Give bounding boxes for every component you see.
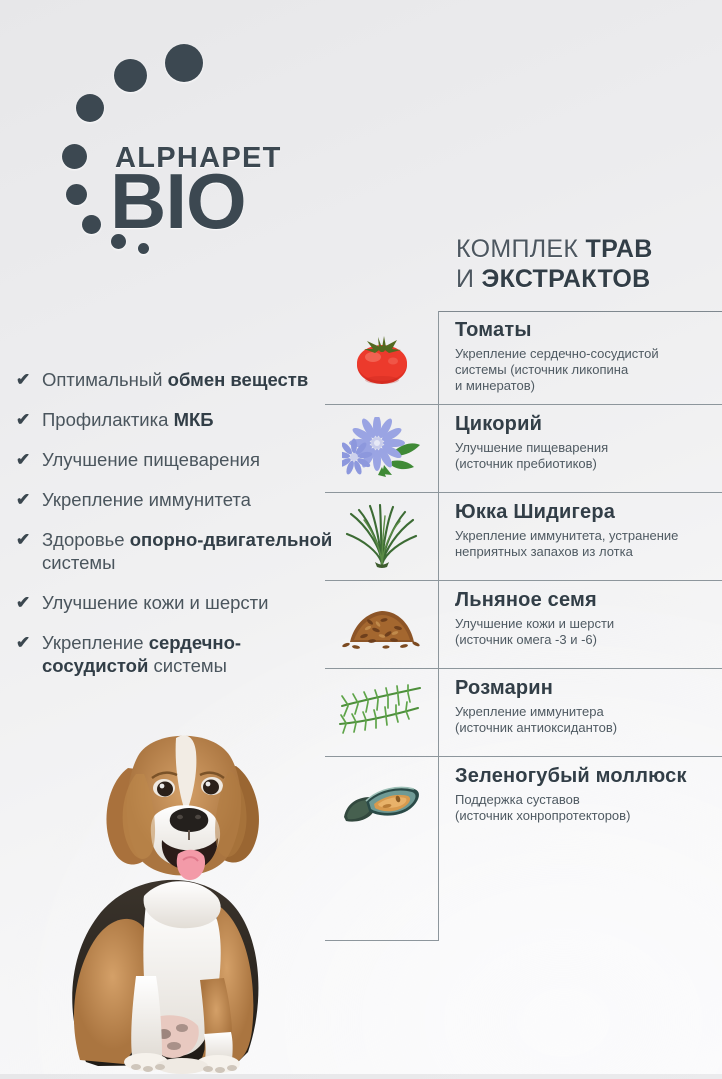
herb-name: Юкка Шидигера	[455, 500, 714, 525]
table-cell-text: Розмарин Укрепление иммунитера (источник…	[438, 668, 722, 756]
herb-name: Зеленогубый моллюск	[455, 764, 714, 789]
herb-description: Улучшение кожи и шерсти (источник омега …	[455, 616, 714, 648]
check-icon: ✔	[16, 448, 42, 471]
logo-wordmark-bio: BIO	[110, 162, 246, 240]
benefit-label: Оптимальный обмен веществ	[42, 368, 308, 391]
herb-name: Розмарин	[455, 676, 714, 701]
herbs-section-title: КОМПЛЕК ТРАВИ ЭКСТРАКТОВ	[456, 234, 722, 294]
check-icon: ✔	[16, 631, 42, 654]
logo-dot-3	[76, 94, 104, 122]
benefit-label: Улучшение пищеварения	[42, 448, 260, 471]
chicory-flower-icon	[325, 404, 438, 492]
benefit-item: ✔ Оптимальный обмен веществ	[16, 368, 336, 391]
check-icon: ✔	[16, 368, 42, 391]
green-lipped-mussel-icon	[325, 756, 438, 844]
benefit-item: ✔ Здоровье опорно-двигательной системы	[16, 528, 336, 574]
herb-name: Цикорий	[455, 412, 714, 437]
herb-name: Льняное семя	[455, 588, 714, 613]
herb-description: Поддержка суставов (источник хонропротек…	[455, 792, 714, 824]
table-row: Льняное семя Улучшение кожи и шерсти (ис…	[325, 580, 722, 668]
beagle-puppy-photo	[40, 690, 340, 1074]
table-cell-text: Томаты Укрепление сердечно-сосудистой си…	[438, 310, 722, 404]
benefit-item: ✔ Профилактика МКБ	[16, 408, 336, 431]
herb-description: Укрепление сердечно-сосудистой системы (…	[455, 346, 714, 394]
benefit-label: Укрепление иммунитета	[42, 488, 251, 511]
check-icon: ✔	[16, 528, 42, 551]
logo-dot-2	[114, 59, 147, 92]
table-row: Цикорий Улучшение пищеварения (источник …	[325, 404, 722, 492]
table-row: Юкка Шидигера Укрепление иммунитета, уст…	[325, 492, 722, 580]
table-cell-text: Юкка Шидигера Укрепление иммунитета, уст…	[438, 492, 722, 580]
table-cell-text: Цикорий Улучшение пищеварения (источник …	[438, 404, 722, 492]
herb-description: Укрепление иммунитета, устранение неприя…	[455, 528, 714, 560]
herb-description: Укрепление иммунитера (источник антиокси…	[455, 704, 714, 736]
rosemary-sprig-icon	[325, 668, 438, 756]
benefit-item: ✔ Укрепление иммунитета	[16, 488, 336, 511]
table-cell-text: Льняное семя Улучшение кожи и шерсти (ис…	[438, 580, 722, 668]
check-icon: ✔	[16, 408, 42, 431]
herbs-table: Томаты Укрепление сердечно-сосудистой си…	[325, 310, 722, 844]
table-row: Зеленогубый моллюск Поддержка суставов (…	[325, 756, 722, 844]
logo-dot-4	[62, 144, 87, 169]
check-icon: ✔	[16, 591, 42, 614]
tomato-icon	[325, 310, 438, 404]
logo-dot-6	[82, 215, 101, 234]
table-row: Томаты Укрепление сердечно-сосудистой си…	[325, 310, 722, 404]
table-cell-text: Зеленогубый моллюск Поддержка суставов (…	[438, 756, 722, 844]
logo-dot-5	[66, 184, 87, 205]
logo-dot-1	[165, 44, 203, 82]
benefit-item: ✔ Улучшение кожи и шерсти	[16, 591, 336, 614]
benefit-label: Укрепление сердечно-сосудистой системы	[42, 631, 336, 677]
benefits-list: ✔ Оптимальный обмен веществ ✔ Профилакти…	[16, 368, 336, 694]
table-row: Розмарин Укрепление иммунитера (источник…	[325, 668, 722, 756]
check-icon: ✔	[16, 488, 42, 511]
benefit-label: Профилактика МКБ	[42, 408, 214, 431]
table-bottom-rule	[325, 940, 439, 941]
benefit-label: Улучшение кожи и шерсти	[42, 591, 269, 614]
brand-logo: ALPHAPET BIO	[62, 44, 312, 254]
flax-seeds-icon	[325, 580, 438, 668]
benefit-item: ✔ Улучшение пищеварения	[16, 448, 336, 471]
benefit-label: Здоровье опорно-двигательной системы	[42, 528, 336, 574]
benefit-item: ✔ Укрепление сердечно-сосудистой системы	[16, 631, 336, 677]
yucca-plant-icon	[325, 492, 438, 580]
herb-name: Томаты	[455, 318, 714, 343]
herb-description: Улучшение пищеварения (источник пребиоти…	[455, 440, 714, 472]
